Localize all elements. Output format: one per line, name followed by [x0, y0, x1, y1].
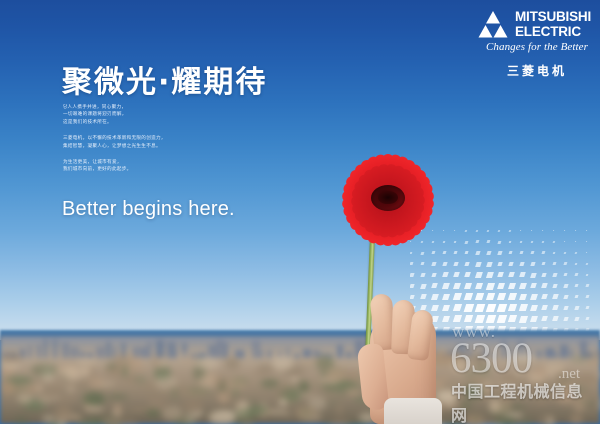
logo-line-2: ELECTRIC — [515, 25, 591, 39]
city-texture — [56, 366, 76, 375]
skyline-building — [37, 345, 41, 358]
city-texture — [159, 403, 170, 407]
brand-slogan: Changes for the Better — [478, 41, 596, 53]
city-texture — [85, 406, 104, 412]
city-texture — [76, 384, 90, 388]
skyline-building — [536, 350, 542, 358]
skyline-building — [44, 339, 47, 358]
city-texture — [534, 395, 559, 403]
skyline-building — [96, 347, 105, 359]
city-texture — [55, 396, 76, 403]
skyline-building — [294, 354, 300, 358]
brand-name-chinese: 三菱电机 — [478, 62, 596, 79]
copy-line: 这是我们的技术所在。 — [63, 119, 243, 126]
copy-paragraph: 三菱电机，以不懈的技术革新和无限的创造力，集结智慧，凝聚人心，让梦想之光生生不息… — [63, 135, 243, 150]
city-texture — [277, 385, 288, 400]
city-texture — [225, 357, 240, 370]
city-texture — [452, 359, 466, 372]
city-texture — [587, 360, 600, 365]
copy-line: 集结智慧，凝聚人心，让梦想之光生生不息。 — [63, 143, 243, 150]
city-texture — [477, 364, 491, 377]
skyline-building — [303, 349, 311, 358]
city-texture — [17, 393, 31, 404]
city-texture — [106, 365, 117, 369]
skyline-building — [242, 353, 245, 358]
city-texture — [214, 377, 226, 387]
page-title: 聚微光·耀期待 — [62, 57, 267, 101]
body-copy: 당人人携手并进，同心聚力，一切艰难的课题将迎刃而解，这是我们的技术所在。三菱电机… — [63, 104, 243, 183]
city-texture — [240, 418, 254, 424]
city-panorama — [0, 336, 600, 424]
copy-line: 三菱电机，以不懈的技术革新和无限的创造力， — [63, 135, 243, 142]
skyline-building — [337, 345, 343, 358]
city-texture — [465, 384, 482, 399]
skyline-building — [267, 350, 273, 358]
copy-paragraph: 당人人携手并进，同心聚力，一切艰难的课题将迎刃而解，这是我们的技术所在。 — [63, 104, 243, 126]
skyline-building — [147, 342, 152, 358]
city-texture — [67, 385, 75, 393]
city-texture — [301, 358, 323, 363]
city-texture — [77, 357, 96, 366]
logo-line-1: MITSUBISHI — [515, 10, 591, 24]
city-texture — [468, 354, 480, 364]
city-texture — [171, 387, 178, 400]
city-texture — [272, 356, 293, 370]
city-texture — [577, 386, 584, 392]
city-texture — [183, 399, 203, 413]
city-texture — [249, 398, 255, 403]
city-texture — [279, 399, 287, 406]
advertisement-poster: 聚微光·耀期待 당人人携手并进，同心聚力，一切艰难的课题将迎刃而解，这是我们的技… — [0, 0, 600, 424]
skyline-building — [501, 340, 508, 358]
city-texture — [469, 378, 487, 385]
city-texture — [561, 383, 573, 396]
skyline-building — [106, 342, 112, 358]
city-texture — [295, 406, 317, 418]
skyline-building — [62, 343, 69, 358]
skyline-building — [70, 347, 80, 358]
copy-line: 为生活更美，让城市有爱， — [63, 159, 243, 166]
skyline-building — [174, 349, 177, 358]
mitsubishi-diamonds-icon — [478, 10, 508, 38]
skyline-building — [492, 353, 495, 358]
city-texture — [20, 384, 43, 393]
city-texture — [583, 407, 597, 413]
copy-line: 一切艰难的课题将迎刃而解， — [63, 111, 243, 118]
city-texture — [579, 400, 597, 406]
skyline-building — [560, 345, 568, 358]
city-texture — [38, 391, 56, 402]
city-texture — [53, 387, 60, 392]
city-texture — [143, 396, 168, 400]
city-texture — [547, 416, 554, 424]
city-texture — [89, 377, 104, 388]
city-texture — [209, 411, 236, 424]
skyline-building — [52, 339, 58, 358]
city-texture — [159, 358, 166, 368]
city-texture — [4, 380, 12, 395]
skyline-building — [224, 343, 228, 358]
skyline-building — [28, 346, 32, 358]
city-texture — [42, 415, 56, 423]
city-texture — [225, 377, 246, 391]
city-texture — [1, 352, 22, 363]
city-texture — [336, 403, 343, 417]
city-texture — [531, 383, 556, 389]
city-texture — [83, 392, 105, 406]
city-texture — [218, 394, 229, 403]
city-texture — [124, 368, 146, 372]
city-texture — [299, 381, 309, 392]
flower-center — [371, 185, 405, 211]
copy-line: 당人人携手并进，同心聚力， — [63, 104, 243, 111]
city-texture — [14, 415, 29, 424]
city-texture — [102, 416, 121, 424]
city-texture — [134, 375, 147, 384]
red-gerbera-flower — [333, 152, 443, 248]
copy-line: 我们城市向前，更好的此起步。 — [63, 166, 243, 173]
skyline-building — [252, 341, 261, 359]
city-texture — [130, 358, 144, 368]
city-texture — [489, 399, 500, 412]
hand-holding-flower — [344, 286, 448, 424]
city-texture — [196, 357, 203, 363]
tagline: Better begins here. — [62, 198, 235, 221]
city-texture — [570, 414, 583, 424]
city-texture — [464, 371, 477, 377]
city-texture — [267, 409, 288, 415]
city-texture — [249, 405, 268, 414]
city-texture — [55, 405, 72, 421]
city-texture — [461, 402, 471, 408]
copy-paragraph: 为生活更美，让城市有爱，我们城市向前，更好的此起步。 — [63, 159, 243, 174]
city-texture — [536, 364, 546, 378]
city-texture — [181, 355, 195, 364]
city-texture — [114, 403, 121, 417]
brand-logo: MITSUBISHI ELECTRIC Changes for the Bett… — [478, 10, 596, 79]
city-texture — [512, 354, 534, 360]
city-texture — [107, 395, 128, 399]
city-texture — [147, 409, 159, 417]
city-texture — [261, 379, 279, 388]
city-texture — [2, 363, 20, 368]
city-texture — [575, 374, 598, 384]
skyline-building — [260, 350, 263, 359]
city-texture — [291, 376, 298, 381]
city-texture — [31, 364, 58, 376]
city-skyline — [0, 336, 600, 358]
city-texture — [571, 355, 588, 363]
city-texture — [500, 374, 524, 383]
wrist-sleeve — [384, 398, 442, 424]
city-texture — [72, 416, 83, 421]
city-texture — [162, 406, 183, 421]
